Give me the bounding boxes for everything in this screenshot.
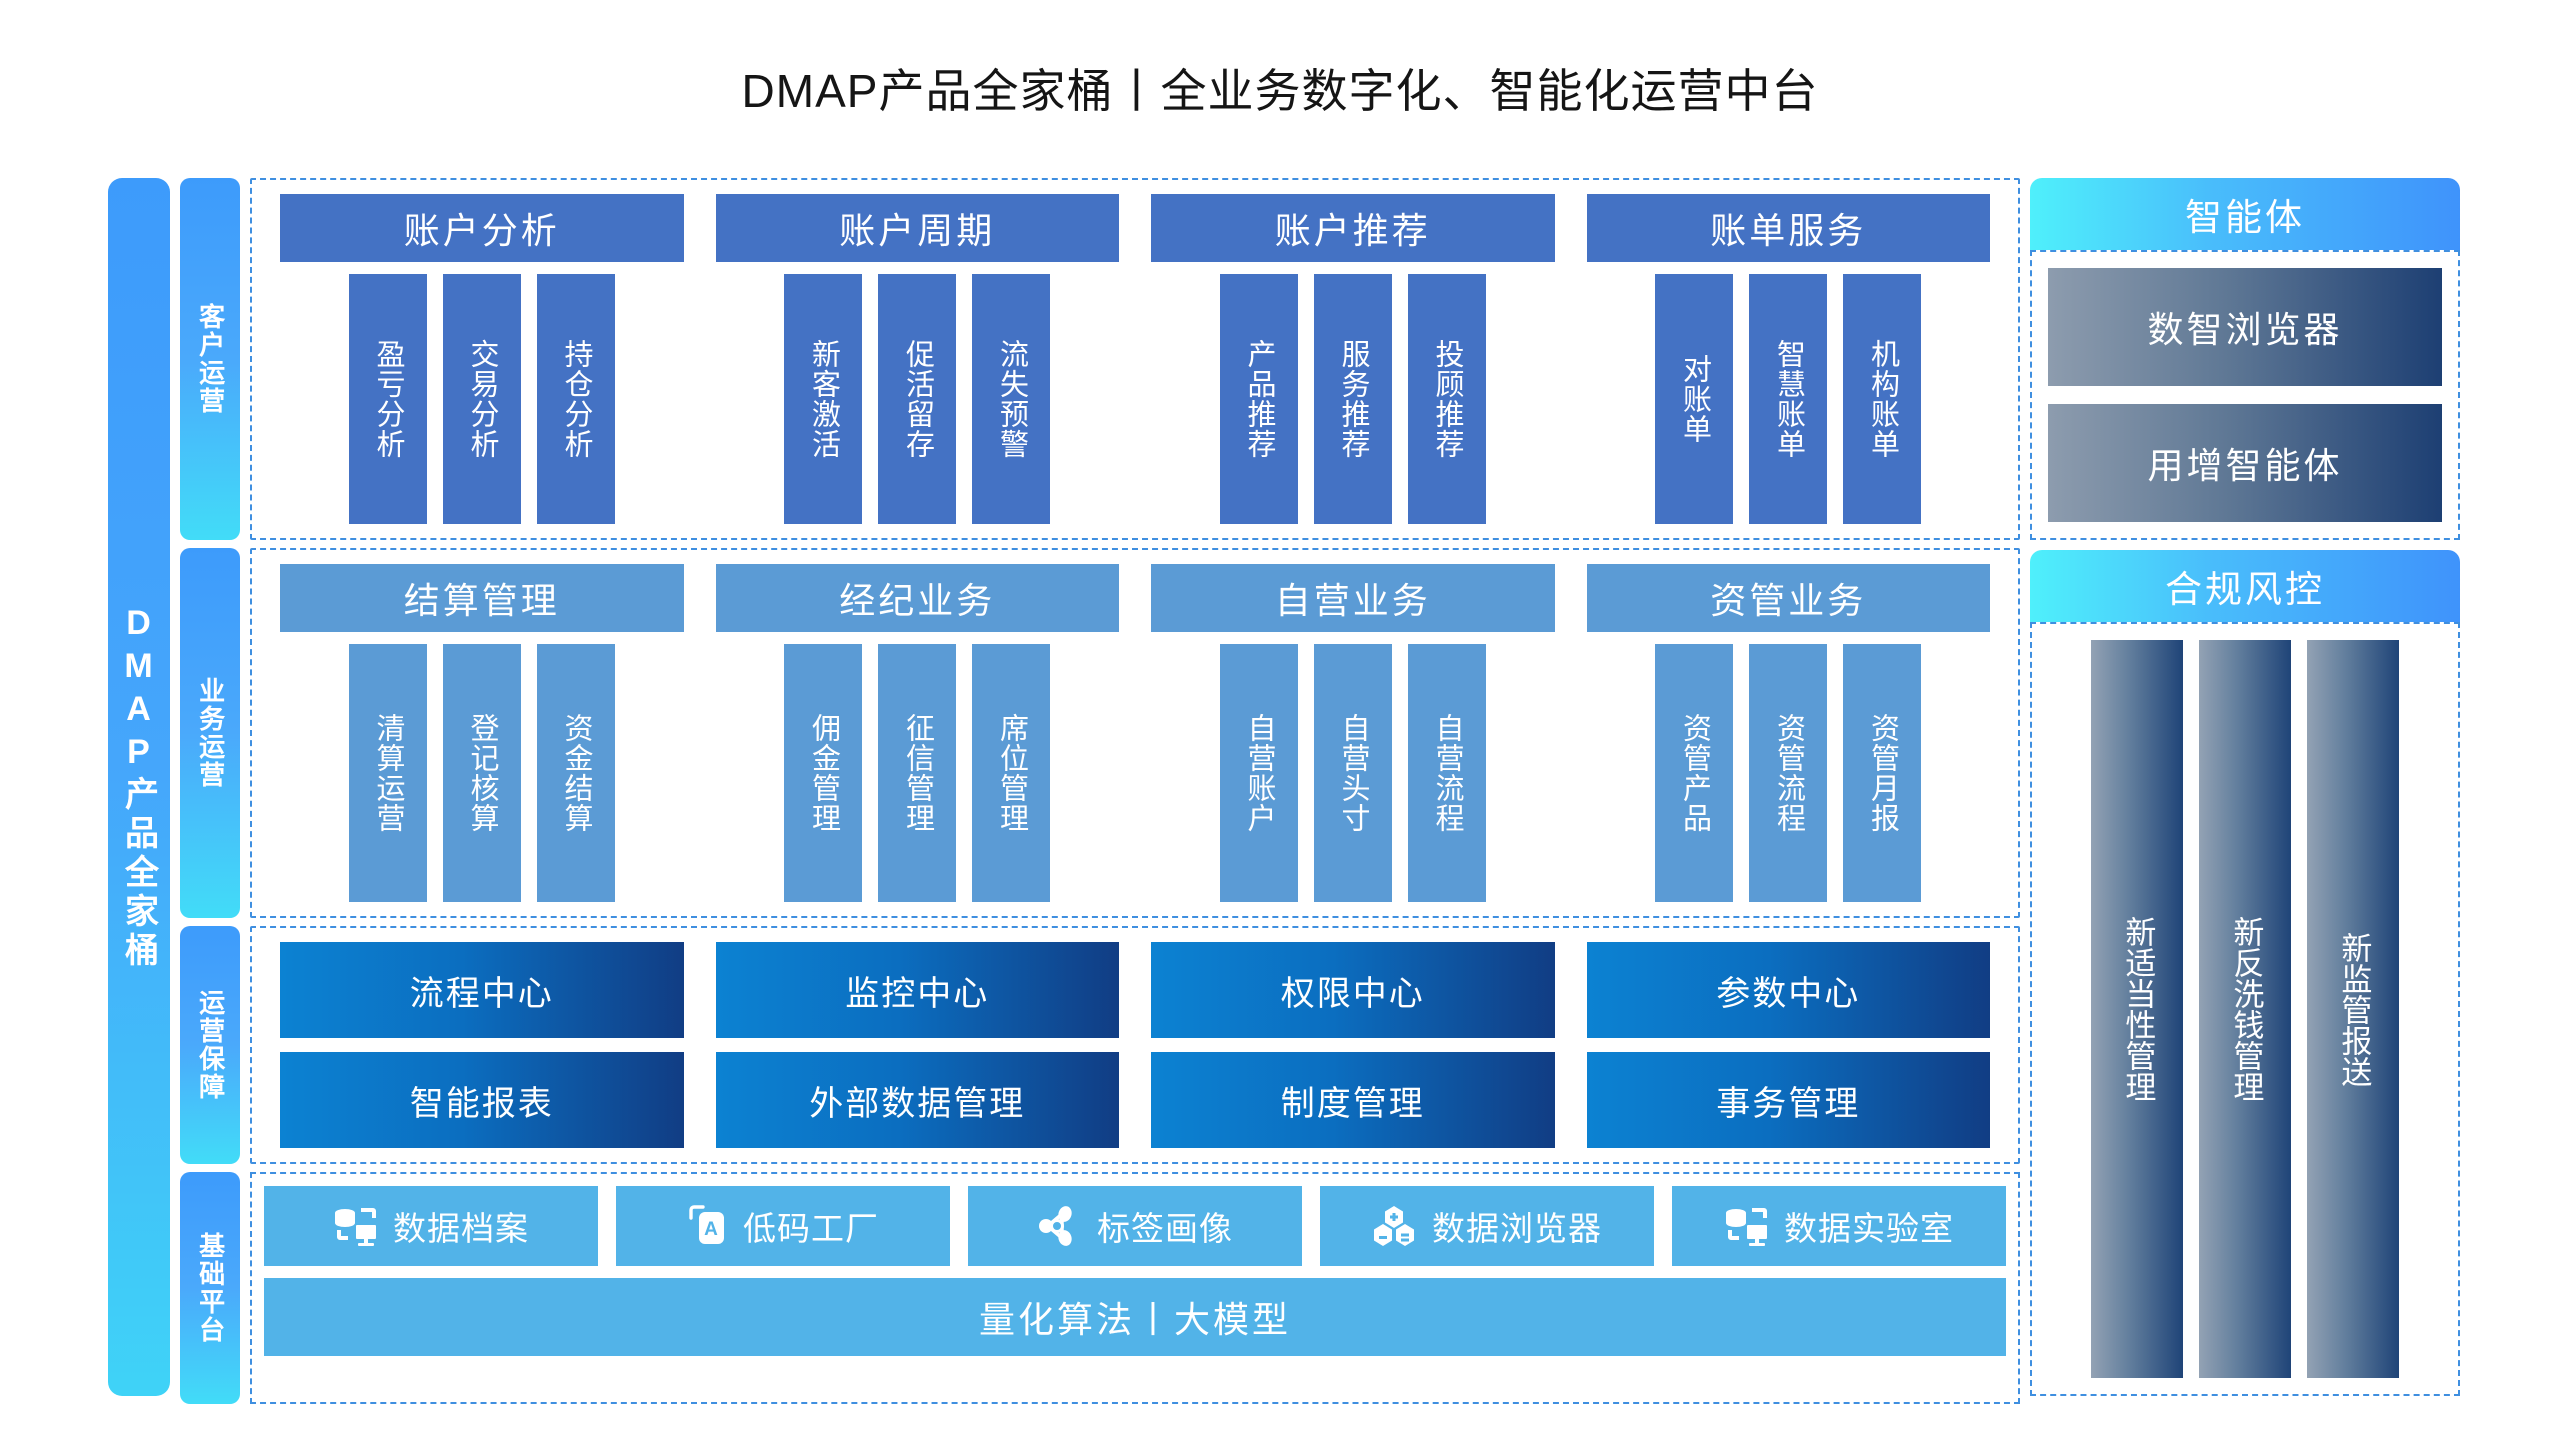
category-label: 业务运营 — [196, 677, 223, 789]
ops-cell-transaction-management[interactable]: 事务管理 — [1587, 1052, 1991, 1148]
module-label: 席位管理 — [995, 713, 1027, 833]
module-label: 服务推荐 — [1337, 339, 1369, 459]
module-label: 促活留存 — [901, 339, 933, 459]
group-header[interactable]: 结算管理 — [280, 564, 684, 632]
module-card[interactable]: 征信管理 — [878, 644, 956, 902]
category-label: 运营保障 — [196, 989, 223, 1101]
module-card[interactable]: 佣金管理 — [784, 644, 862, 902]
ops-cell-process-center[interactable]: 流程中心 — [280, 942, 684, 1038]
platform-label: 数据档案 — [393, 1202, 529, 1250]
agent-cell-smart-browser[interactable]: 数智浏览器 — [2048, 268, 2442, 386]
platform-cell-data-archive[interactable]: 数据档案 — [264, 1186, 598, 1266]
platform-label: 标签画像 — [1097, 1202, 1233, 1250]
module-card[interactable]: 自营流程 — [1408, 644, 1486, 902]
platform-cell-lowcode-factory[interactable]: A 低码工厂 — [616, 1186, 950, 1266]
module-label: 征信管理 — [901, 713, 933, 833]
module-card[interactable]: 流失预警 — [972, 274, 1050, 524]
module-label: 资金结算 — [560, 713, 592, 833]
module-label: 产品推荐 — [1243, 339, 1275, 459]
module-card[interactable]: 清算运营 — [349, 644, 427, 902]
module-label: 对账单 — [1678, 354, 1710, 444]
letter-a-card-icon: A — [687, 1204, 729, 1248]
ops-cell-external-data-management[interactable]: 外部数据管理 — [716, 1052, 1120, 1148]
ops-cell-smart-report[interactable]: 智能报表 — [280, 1052, 684, 1148]
group-brokerage-business: 经纪业务 佣金管理 征信管理 席位管理 — [716, 564, 1120, 902]
category-chip-customer-ops[interactable]: 客户运营 — [180, 178, 240, 540]
module-card[interactable]: 新客激活 — [784, 274, 862, 524]
hexagon-cluster-icon — [1372, 1204, 1418, 1248]
page-title: DMAP产品全家桶丨全业务数字化、智能化运营中台 — [0, 55, 2560, 121]
group-header[interactable]: 账户周期 — [716, 194, 1120, 262]
agent-cell-growth-agent[interactable]: 用增智能体 — [2048, 404, 2442, 522]
group-account-recommendation: 账户推荐 产品推荐 服务推荐 投顾推荐 — [1151, 194, 1555, 524]
group-account-lifecycle: 账户周期 新客激活 促活留存 流失预警 — [716, 194, 1120, 524]
category-chip-business-ops[interactable]: 业务运营 — [180, 548, 240, 918]
panel-compliance-risk: 合规风控 新适当性管理 新反洗钱管理 新监管报送 — [2030, 550, 2460, 1396]
database-monitor-icon — [333, 1204, 379, 1248]
module-card[interactable]: 席位管理 — [972, 644, 1050, 902]
panel-intelligent-agent: 智能体 数智浏览器 用增智能体 — [2030, 178, 2460, 540]
risk-label: 新监管报送 — [2336, 932, 2371, 1087]
ops-cell-policy-management[interactable]: 制度管理 — [1151, 1052, 1555, 1148]
group-asset-management: 资管业务 资管产品 资管流程 资管月报 — [1587, 564, 1991, 902]
category-column: 客户运营 业务运营 运营保障 基础平台 — [180, 178, 240, 1396]
module-label: 持仓分析 — [560, 339, 592, 459]
ops-column-process: 流程中心 智能报表 — [280, 942, 684, 1148]
module-card[interactable]: 登记核算 — [443, 644, 521, 902]
platform-cell-data-browser[interactable]: 数据浏览器 — [1320, 1186, 1654, 1266]
module-card[interactable]: 促活留存 — [878, 274, 956, 524]
ops-cell-monitor-center[interactable]: 监控中心 — [716, 942, 1120, 1038]
ops-cell-permission-center[interactable]: 权限中心 — [1151, 942, 1555, 1038]
database-monitor-icon — [1724, 1204, 1770, 1248]
module-card[interactable]: 资管流程 — [1749, 644, 1827, 902]
diagram-page: DMAP产品全家桶丨全业务数字化、智能化运营中台 DMAP产品全家桶 客户运营 … — [0, 0, 2560, 1440]
module-card[interactable]: 投顾推荐 — [1408, 274, 1486, 524]
module-card[interactable]: 自营账户 — [1220, 644, 1298, 902]
category-chip-ops-guarantee[interactable]: 运营保障 — [180, 926, 240, 1164]
group-header[interactable]: 账单服务 — [1587, 194, 1991, 262]
module-card[interactable]: 交易分析 — [443, 274, 521, 524]
architecture-board: DMAP产品全家桶 客户运营 业务运营 运营保障 基础平台 账户 — [108, 178, 2460, 1396]
ops-column-monitor: 监控中心 外部数据管理 — [716, 942, 1120, 1148]
module-card[interactable]: 资管产品 — [1655, 644, 1733, 902]
group-header[interactable]: 账户分析 — [280, 194, 684, 262]
group-proprietary-business: 自营业务 自营账户 自营头寸 自营流程 — [1151, 564, 1555, 902]
module-label: 清算运营 — [372, 713, 404, 833]
group-account-analysis: 账户分析 盈亏分析 交易分析 持仓分析 — [280, 194, 684, 524]
master-product-label: DMAP产品全家桶 — [115, 604, 164, 971]
risk-cell-regulatory-reporting[interactable]: 新监管报送 — [2307, 640, 2399, 1378]
row-customer-ops: 账户分析 盈亏分析 交易分析 持仓分析 账户周期 新客激活 促活留存 流失预警 — [250, 178, 2020, 540]
module-label: 自营账户 — [1243, 713, 1275, 833]
category-label: 基础平台 — [196, 1232, 223, 1344]
module-card[interactable]: 持仓分析 — [537, 274, 615, 524]
group-header[interactable]: 资管业务 — [1587, 564, 1991, 632]
row-base-platform: 数据档案 A 低码工厂 — [250, 1172, 2020, 1404]
module-label: 盈亏分析 — [372, 339, 404, 459]
module-card[interactable]: 机构账单 — [1843, 274, 1921, 524]
platform-label: 数据浏览器 — [1432, 1202, 1602, 1250]
module-card[interactable]: 产品推荐 — [1220, 274, 1298, 524]
panel-header-agent[interactable]: 智能体 — [2030, 178, 2460, 250]
module-card[interactable]: 资管月报 — [1843, 644, 1921, 902]
row-ops-guarantee: 流程中心 智能报表 监控中心 外部数据管理 权限中心 制度管理 参数中心 事务管… — [250, 926, 2020, 1164]
module-label: 投顾推荐 — [1431, 339, 1463, 459]
group-settlement-management: 结算管理 清算运营 登记核算 资金结算 — [280, 564, 684, 902]
module-card[interactable]: 智慧账单 — [1749, 274, 1827, 524]
svg-text:A: A — [704, 1219, 719, 1240]
module-card[interactable]: 对账单 — [1655, 274, 1733, 524]
group-statement-service: 账单服务 对账单 智慧账单 机构账单 — [1587, 194, 1991, 524]
bottom-bar-quant-llm[interactable]: 量化算法丨大模型 — [264, 1278, 2006, 1356]
module-label: 自营头寸 — [1337, 713, 1369, 833]
module-label: 智慧账单 — [1772, 339, 1804, 459]
risk-cell-suitability[interactable]: 新适当性管理 — [2091, 640, 2183, 1378]
module-card[interactable]: 服务推荐 — [1314, 274, 1392, 524]
ops-column-parameter: 参数中心 事务管理 — [1587, 942, 1991, 1148]
platform-cell-data-lab[interactable]: 数据实验室 — [1672, 1186, 2006, 1266]
center-stack: 账户分析 盈亏分析 交易分析 持仓分析 账户周期 新客激活 促活留存 流失预警 — [250, 178, 2020, 1396]
risk-label: 新反洗钱管理 — [2228, 916, 2263, 1102]
risk-label: 新适当性管理 — [2120, 916, 2155, 1102]
platform-label: 低码工厂 — [743, 1202, 879, 1250]
group-header[interactable]: 经纪业务 — [716, 564, 1120, 632]
module-label: 佣金管理 — [807, 713, 839, 833]
module-card[interactable]: 盈亏分析 — [349, 274, 427, 524]
module-label: 自营流程 — [1431, 713, 1463, 833]
module-label: 新客激活 — [807, 339, 839, 459]
platform-cell-label-portrait[interactable]: 标签画像 — [968, 1186, 1302, 1266]
module-label: 登记核算 — [466, 713, 498, 833]
module-card[interactable]: 资金结算 — [537, 644, 615, 902]
module-label: 资管流程 — [1772, 713, 1804, 833]
risk-cell-anti-money-laundering[interactable]: 新反洗钱管理 — [2199, 640, 2291, 1378]
module-card[interactable]: 自营头寸 — [1314, 644, 1392, 902]
group-header[interactable]: 自营业务 — [1151, 564, 1555, 632]
master-product-bar: DMAP产品全家桶 — [108, 178, 170, 1396]
module-label: 资管月报 — [1866, 713, 1898, 833]
module-label: 流失预警 — [995, 339, 1027, 459]
category-chip-base-platform[interactable]: 基础平台 — [180, 1172, 240, 1404]
panel-header-risk[interactable]: 合规风控 — [2030, 550, 2460, 622]
platform-label: 数据实验室 — [1784, 1202, 1954, 1250]
module-label: 资管产品 — [1678, 713, 1710, 833]
ops-cell-parameter-center[interactable]: 参数中心 — [1587, 942, 1991, 1038]
module-label: 机构账单 — [1866, 339, 1898, 459]
category-label: 客户运营 — [196, 303, 223, 415]
ops-column-permission: 权限中心 制度管理 — [1151, 942, 1555, 1148]
row-business-ops: 结算管理 清算运营 登记核算 资金结算 经纪业务 佣金管理 征信管理 席位管理 — [250, 548, 2020, 918]
group-header[interactable]: 账户推荐 — [1151, 194, 1555, 262]
network-share-icon — [1037, 1204, 1083, 1248]
right-panel-column: 智能体 数智浏览器 用增智能体 合规风控 新适当性管理 新反洗钱管理 新监管报 — [2030, 178, 2460, 1396]
module-label: 交易分析 — [466, 339, 498, 459]
